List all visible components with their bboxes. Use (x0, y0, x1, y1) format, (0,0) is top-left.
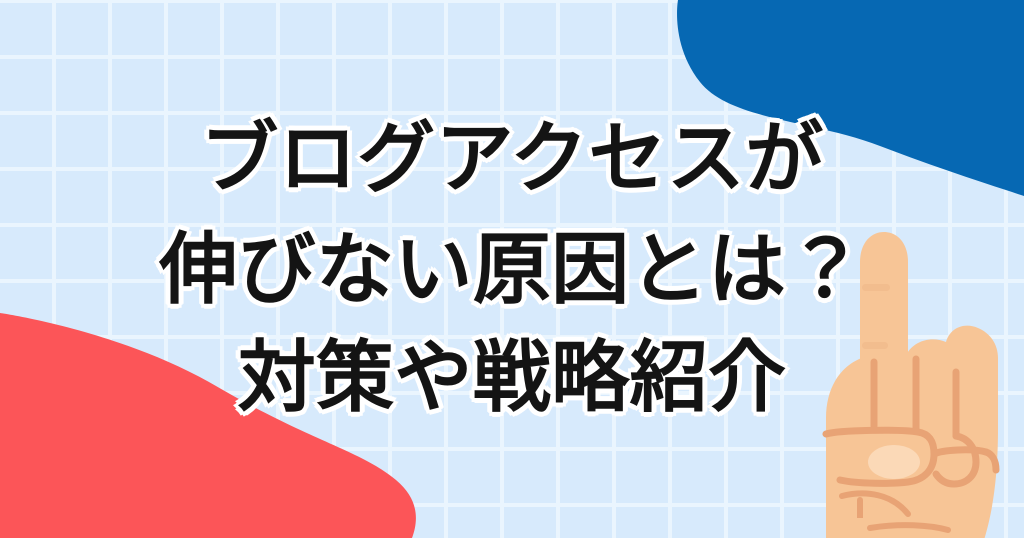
palm-highlight (868, 445, 920, 479)
pointing-hand-illustration (796, 222, 1024, 538)
eyecatch-thumbnail: ブログアクセスが 伸びない原因とは？ 対策や戦略紹介 (0, 0, 1024, 538)
